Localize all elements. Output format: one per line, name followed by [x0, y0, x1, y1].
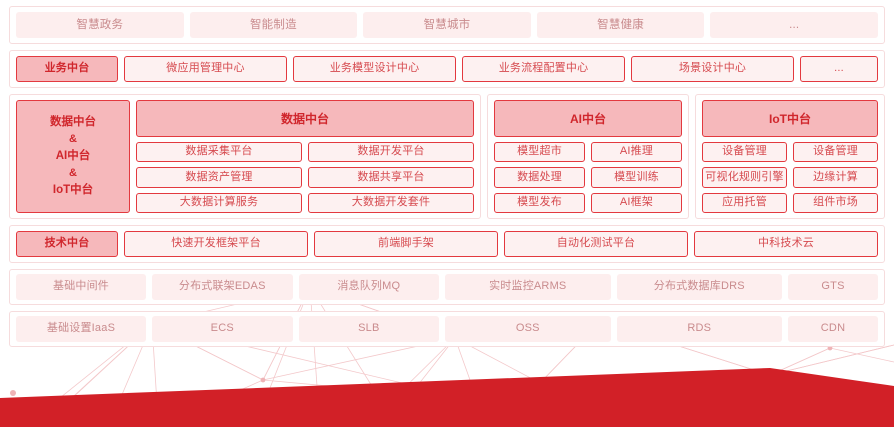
business-item-more[interactable]: ...: [800, 56, 878, 82]
ai-item-model-publish[interactable]: 模型发布: [494, 193, 585, 213]
iot-platform-card: IoT中台 设备管理 设备管理 可视化规则引擎 边缘计算 应用托管 组件市场: [695, 94, 885, 219]
middleware-item-drs[interactable]: 分布式数据库DRS: [617, 274, 782, 300]
ai-item-model-train[interactable]: 模型训练: [591, 167, 682, 187]
iaas-item-rds[interactable]: RDS: [617, 316, 782, 342]
scenario-item-1[interactable]: 智能制造: [190, 12, 358, 38]
middleware-item-arms[interactable]: 实时监控ARMS: [445, 274, 610, 300]
middleware-item-gts[interactable]: GTS: [788, 274, 878, 300]
ai-platform-title[interactable]: AI中台: [494, 100, 682, 137]
combo-label-line2: AI中台: [56, 148, 91, 165]
tech-item-frontend-scaffold[interactable]: 前端脚手架: [314, 231, 498, 257]
data-platform-card: 数据中台 & AI中台 & IoT中台 数据中台 数据采集平台 数据开发平台 数…: [9, 94, 481, 219]
iaas-title[interactable]: 基础设置IaaS: [16, 316, 146, 342]
ai-platform-card: AI中台 模型超市 AI推理 数据处理 模型训练 模型发布 AI框架: [487, 94, 689, 219]
combo-platform-label: 数据中台 & AI中台 & IoT中台: [16, 100, 130, 213]
iot-item-device-mgmt-2[interactable]: 设备管理: [793, 142, 878, 162]
data-item-develop[interactable]: 数据开发平台: [308, 142, 474, 162]
red-banner-shape: [0, 368, 894, 427]
data-item-asset-mgmt[interactable]: 数据资产管理: [136, 167, 302, 187]
iot-item-device-mgmt-1[interactable]: 设备管理: [702, 142, 787, 162]
iot-item-app-hosting[interactable]: 应用托管: [702, 193, 787, 213]
ai-item-inference[interactable]: AI推理: [591, 142, 682, 162]
tech-platform-row: 技术中台 快速开发框架平台 前端脚手架 自动化测试平台 中科技术云: [9, 225, 885, 263]
middleware-item-edas[interactable]: 分布式联架EDAS: [152, 274, 293, 300]
ai-item-data-process[interactable]: 数据处理: [494, 167, 585, 187]
iot-item-component-market[interactable]: 组件市场: [793, 193, 878, 213]
scenario-layer-row: 智慧政务 智能制造 智慧城市 智慧健康 ...: [9, 6, 885, 44]
data-item-bigdata-suite[interactable]: 大数据开发套件: [308, 193, 474, 213]
scenario-item-more[interactable]: ...: [710, 12, 878, 38]
combo-label-line3: IoT中台: [53, 182, 93, 199]
scenario-item-2[interactable]: 智慧城市: [363, 12, 531, 38]
combo-label-line1: 数据中台: [50, 114, 96, 131]
iot-item-rule-engine[interactable]: 可视化规则引擎: [702, 167, 787, 187]
iot-item-edge-compute[interactable]: 边缘计算: [793, 167, 878, 187]
data-item-bigdata-compute[interactable]: 大数据计算服务: [136, 193, 302, 213]
middle-platform-row: 数据中台 & AI中台 & IoT中台 数据中台 数据采集平台 数据开发平台 数…: [9, 94, 885, 219]
iaas-row: 基础设置IaaS ECS SLB OSS RDS CDN: [9, 311, 885, 347]
tech-item-rapid-dev-framework[interactable]: 快速开发框架平台: [124, 231, 308, 257]
tech-platform-title[interactable]: 技术中台: [16, 231, 118, 257]
business-item-scene-design-center[interactable]: 场景设计中心: [631, 56, 794, 82]
combo-label-amp2: &: [69, 165, 77, 182]
scenario-item-0[interactable]: 智慧政务: [16, 12, 184, 38]
ai-item-framework[interactable]: AI框架: [591, 193, 682, 213]
combo-label-amp1: &: [69, 131, 77, 148]
business-item-micro-app-center[interactable]: 微应用管理中心: [124, 56, 287, 82]
data-platform-title[interactable]: 数据中台: [136, 100, 474, 137]
data-item-collect[interactable]: 数据采集平台: [136, 142, 302, 162]
iaas-item-cdn[interactable]: CDN: [788, 316, 878, 342]
iaas-item-oss[interactable]: OSS: [445, 316, 610, 342]
business-item-process-config-center[interactable]: 业务流程配置中心: [462, 56, 625, 82]
data-item-share[interactable]: 数据共享平台: [308, 167, 474, 187]
tech-item-auto-test[interactable]: 自动化测试平台: [504, 231, 688, 257]
iaas-item-slb[interactable]: SLB: [299, 316, 440, 342]
tech-item-zhongke-cloud[interactable]: 中科技术云: [694, 231, 878, 257]
business-platform-row: 业务中台 微应用管理中心 业务模型设计中心 业务流程配置中心 场景设计中心 ..…: [9, 50, 885, 88]
business-platform-title[interactable]: 业务中台: [16, 56, 118, 82]
middleware-item-mq[interactable]: 消息队列MQ: [299, 274, 440, 300]
scenario-item-3[interactable]: 智慧健康: [537, 12, 705, 38]
middleware-row: 基础中间件 分布式联架EDAS 消息队列MQ 实时监控ARMS 分布式数据库DR…: [9, 269, 885, 305]
ai-item-model-market[interactable]: 模型超市: [494, 142, 585, 162]
iot-platform-title[interactable]: IoT中台: [702, 100, 878, 137]
business-item-model-design-center[interactable]: 业务模型设计中心: [293, 56, 456, 82]
architecture-diagram: 智慧政务 智能制造 智慧城市 智慧健康 ... 业务中台 微应用管理中心 业务模…: [0, 0, 894, 347]
iaas-item-ecs[interactable]: ECS: [152, 316, 293, 342]
middleware-title[interactable]: 基础中间件: [16, 274, 146, 300]
